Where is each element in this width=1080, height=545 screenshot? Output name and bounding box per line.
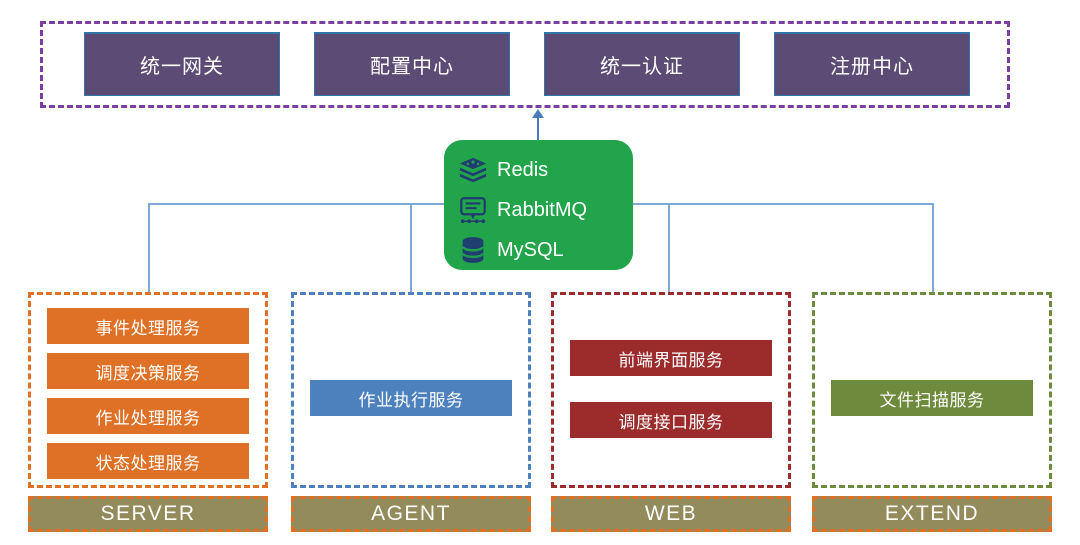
service-label: 作业执行服务 [359,386,464,411]
platform-box-label: 配置中心 [370,50,454,79]
service-label: 调度接口服务 [619,408,724,433]
architecture-diagram: 统一网关 配置中心 统一认证 注册中心 [0,0,1080,545]
middleware-to-platform-arrow-head [532,109,544,118]
service-box[interactable]: 作业处理服务 [47,398,249,434]
group-web: 前端界面服务 调度接口服务 [551,292,791,488]
platform-box-unified-auth[interactable]: 统一认证 [544,32,740,96]
connector-bus-right [633,203,933,205]
platform-box-config-center[interactable]: 配置中心 [314,32,510,96]
group-footer-extend: EXTEND [812,496,1052,532]
group-footer-label: WEB [645,502,697,526]
mysql-database-icon [458,235,488,265]
group-server: 事件处理服务 调度决策服务 作业处理服务 状态处理服务 [28,292,268,488]
group-extend: 文件扫描服务 [812,292,1052,488]
middleware-item-redis[interactable]: Redis [458,150,633,190]
service-box[interactable]: 状态处理服务 [47,443,249,479]
platform-box-label: 统一认证 [600,50,684,79]
group-footer-label: SERVER [101,502,196,526]
middleware-item-label: RabbitMQ [497,200,587,220]
middleware-item-mysql[interactable]: MySQL [458,230,633,270]
middleware-box: Redis [444,140,633,270]
service-label: 作业处理服务 [96,404,201,429]
rabbitmq-message-icon [458,195,488,225]
connector-drop-web [668,203,670,292]
service-box[interactable]: 前端界面服务 [570,340,772,376]
platform-box-registry-center[interactable]: 注册中心 [774,32,970,96]
middleware-item-label: Redis [497,160,548,180]
service-label: 调度决策服务 [96,359,201,384]
middleware-item-rabbitmq[interactable]: RabbitMQ [458,190,633,230]
service-label: 文件扫描服务 [880,386,985,411]
service-label: 状态处理服务 [96,449,201,474]
group-agent: 作业执行服务 [291,292,531,488]
group-footer-agent: AGENT [291,496,531,532]
redis-layers-icon [458,155,488,185]
platform-box-label: 统一网关 [140,50,224,79]
platform-box-label: 注册中心 [830,50,914,79]
connector-drop-agent [410,203,412,292]
connector-bus-left [148,203,444,205]
service-box[interactable]: 作业执行服务 [310,380,512,416]
platform-box-unified-gateway[interactable]: 统一网关 [84,32,280,96]
service-label: 前端界面服务 [619,346,724,371]
group-footer-web: WEB [551,496,791,532]
middleware-to-platform-arrow-stem [537,118,539,142]
service-label: 事件处理服务 [96,314,201,339]
service-box[interactable]: 调度接口服务 [570,402,772,438]
service-box[interactable]: 事件处理服务 [47,308,249,344]
group-footer-server: SERVER [28,496,268,532]
connector-drop-extend [932,203,934,292]
middleware-item-label: MySQL [497,240,564,260]
connector-drop-server [148,203,150,292]
group-footer-label: AGENT [371,502,451,526]
group-footer-label: EXTEND [885,502,979,526]
service-box[interactable]: 调度决策服务 [47,353,249,389]
service-box[interactable]: 文件扫描服务 [831,380,1033,416]
